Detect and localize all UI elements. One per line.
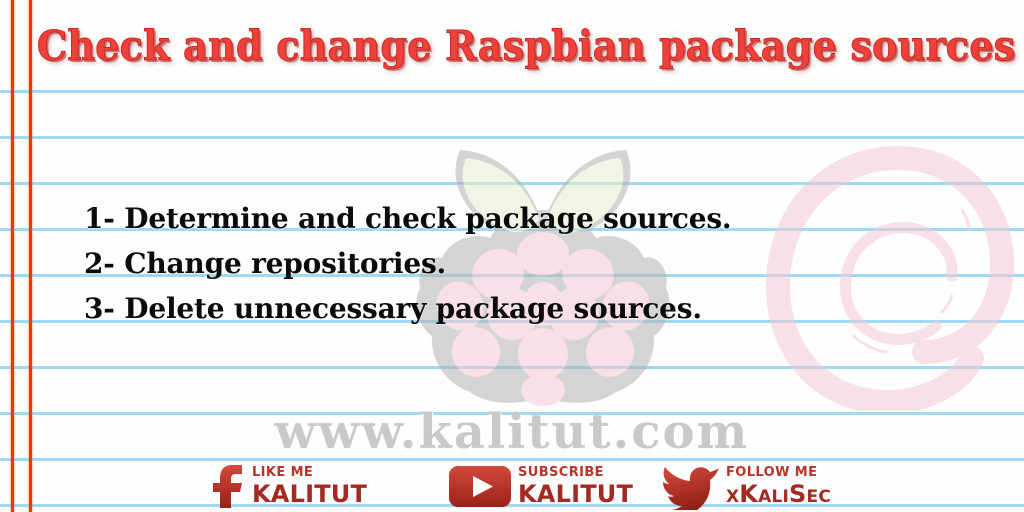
twitter-bird-icon bbox=[660, 462, 720, 510]
site-url-watermark: www.kalitut.com bbox=[0, 404, 1024, 460]
social-action-label: LIKE ME bbox=[252, 466, 367, 479]
social-handle-label: xKaliSec bbox=[726, 482, 831, 506]
facebook-f-icon bbox=[212, 463, 246, 509]
social-handle-label: KALITUT bbox=[252, 482, 367, 506]
list-item: 3- Delete unnecessary package sources. bbox=[84, 286, 914, 331]
youtube-play-icon bbox=[448, 463, 512, 509]
social-link-twitter[interactable]: FOLLOW ME xKaliSec bbox=[660, 462, 831, 510]
steps-list: 1- Determine and check package sources. … bbox=[84, 196, 914, 331]
page-title: Check and change Raspbian package source… bbox=[0, 22, 1024, 70]
paper-rule-line bbox=[0, 366, 1024, 369]
social-action-label: FOLLOW ME bbox=[726, 466, 831, 479]
list-item: 1- Determine and check package sources. bbox=[84, 196, 914, 241]
social-labels-facebook: LIKE ME KALITUT bbox=[252, 466, 367, 506]
notebook-page: Check and change Raspbian package source… bbox=[0, 0, 1024, 512]
paper-rule-line bbox=[0, 182, 1024, 185]
paper-rule-line bbox=[0, 136, 1024, 139]
paper-rule-line bbox=[0, 90, 1024, 93]
social-action-label: SUBSCRIBE bbox=[518, 466, 633, 479]
social-handle-label: KALITUT bbox=[518, 482, 633, 506]
social-labels-youtube: SUBSCRIBE KALITUT bbox=[518, 466, 633, 506]
social-footer: LIKE ME KALITUT SUBSCRIBE KALITUT bbox=[0, 462, 1024, 512]
social-link-youtube[interactable]: SUBSCRIBE KALITUT bbox=[448, 462, 633, 510]
social-link-facebook[interactable]: LIKE ME KALITUT bbox=[212, 462, 367, 510]
page-title-text: Check and change Raspbian package source… bbox=[37, 22, 1016, 70]
social-labels-twitter: FOLLOW ME xKaliSec bbox=[726, 466, 831, 506]
list-item: 2- Change repositories. bbox=[84, 241, 914, 286]
